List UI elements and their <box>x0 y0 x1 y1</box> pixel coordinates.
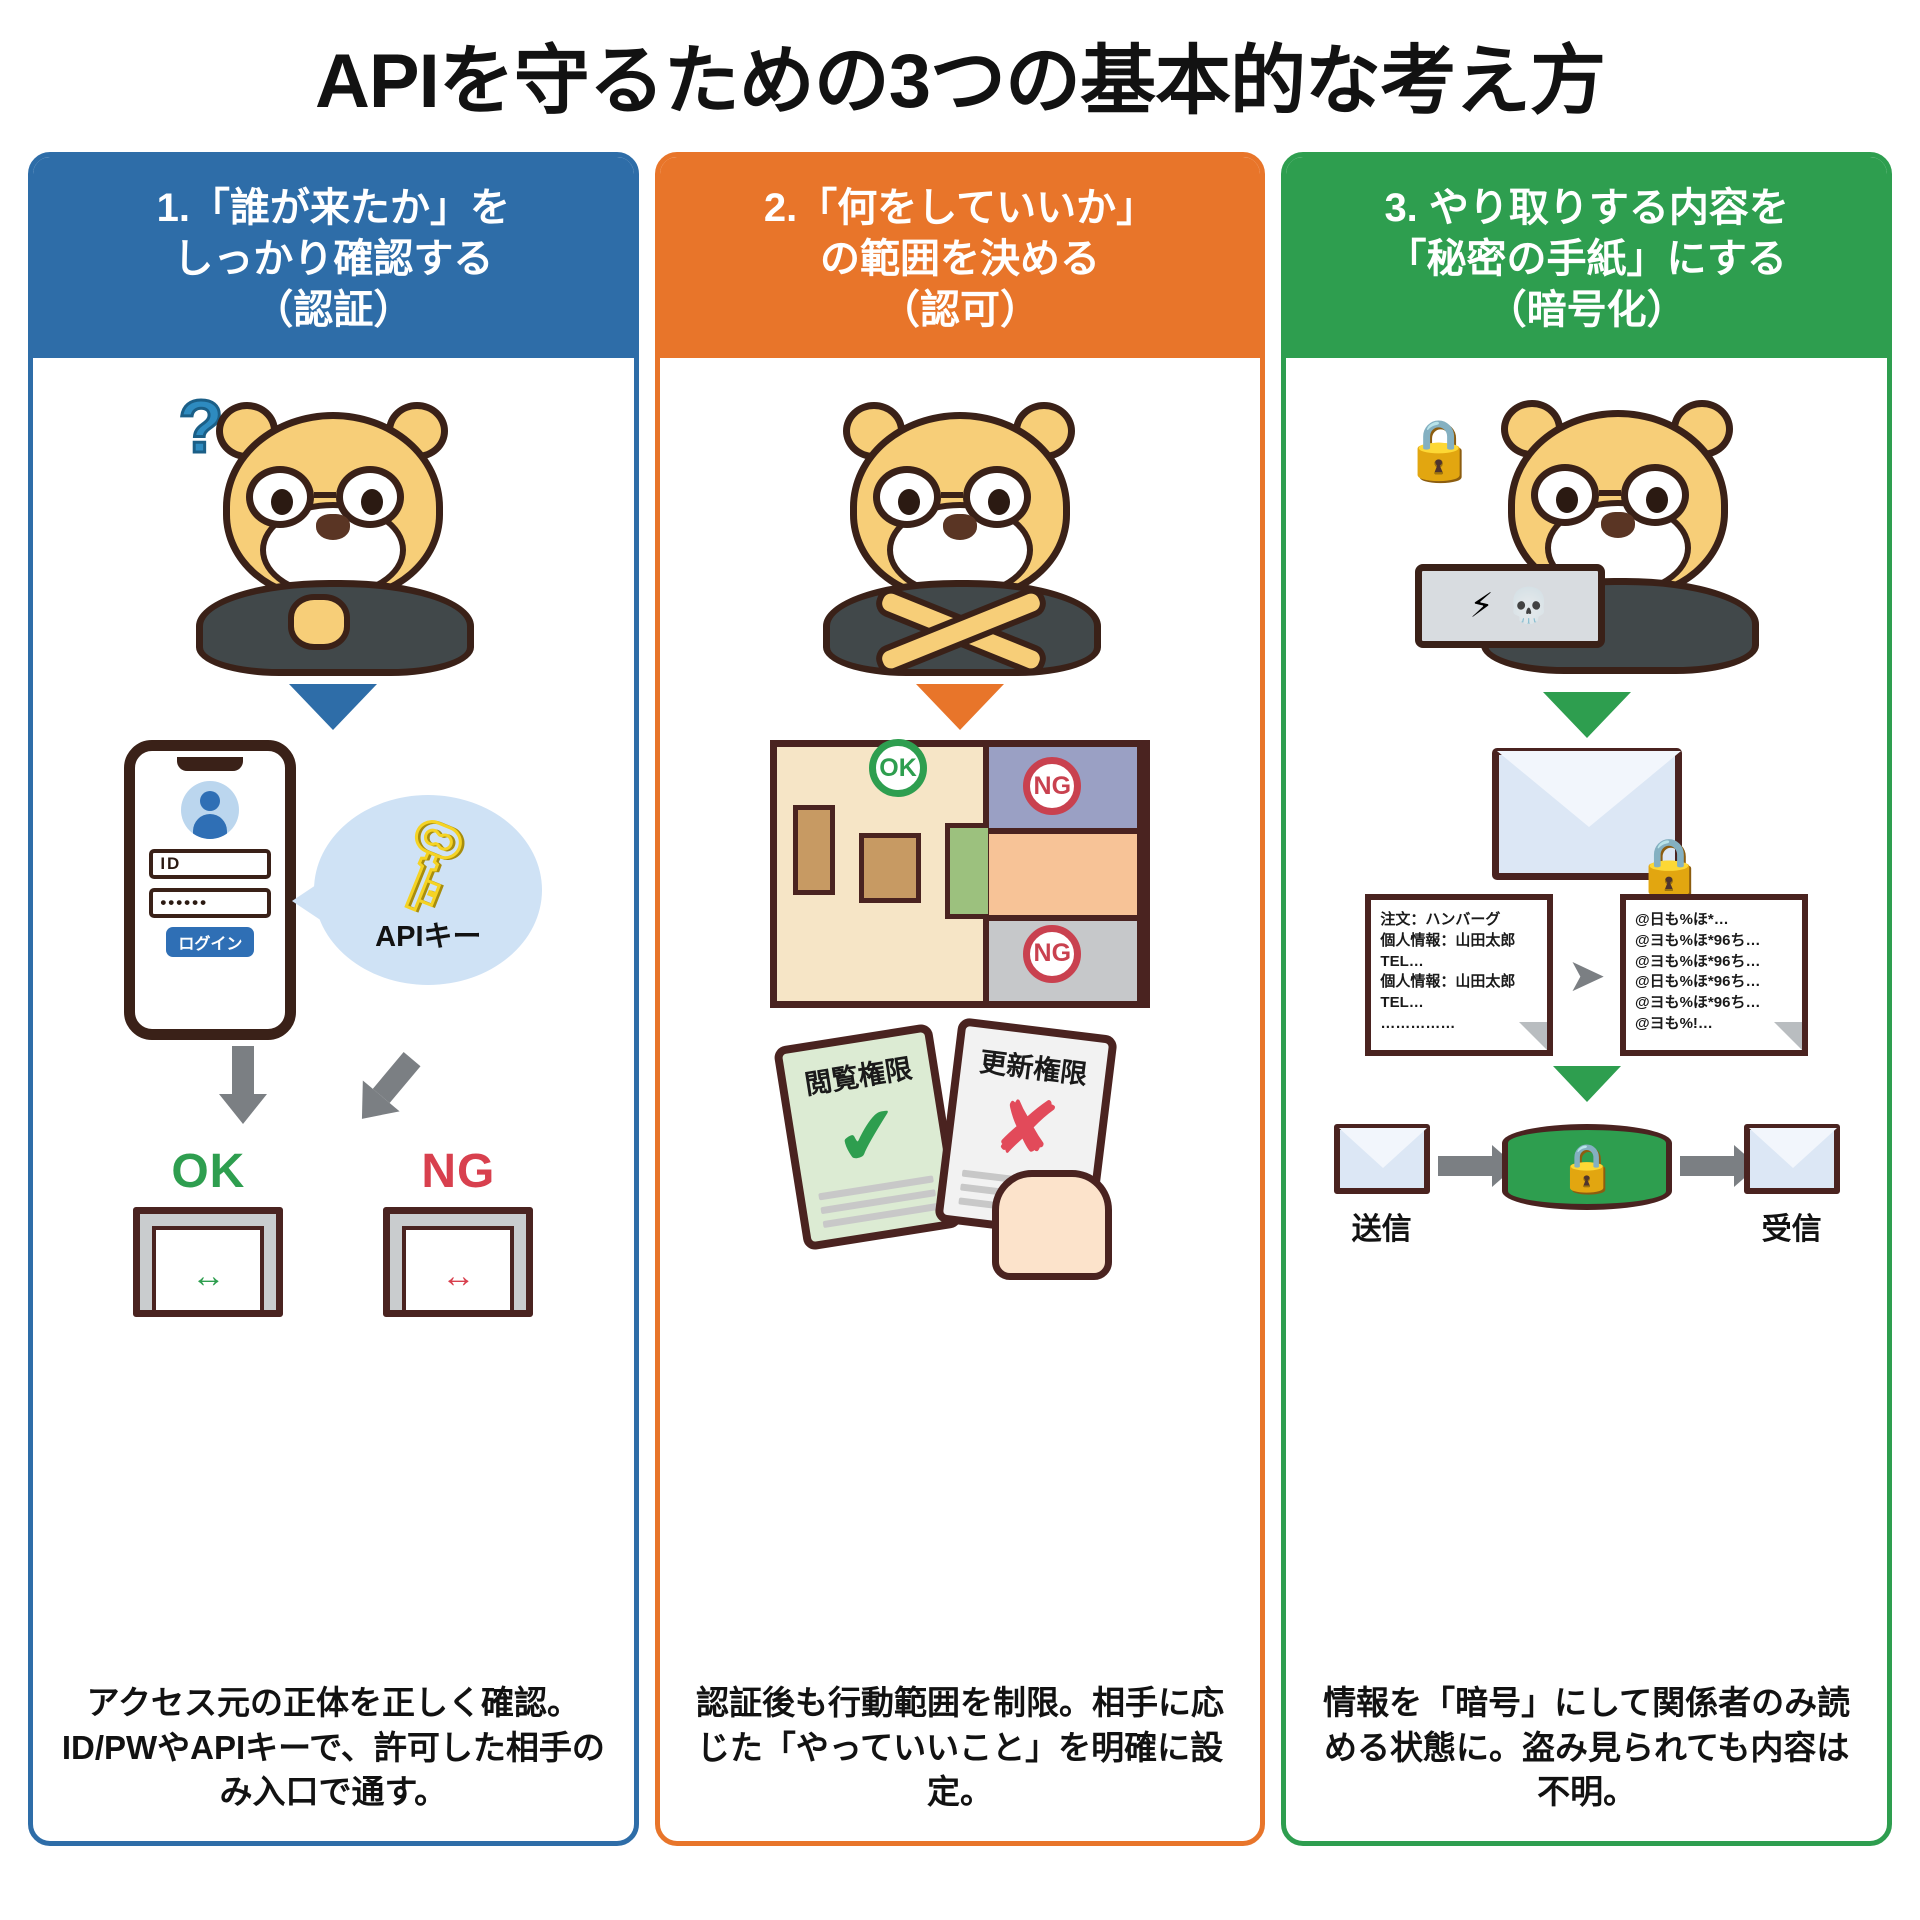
down-arrow-green-icon <box>1543 692 1631 738</box>
gate-closed-icon: ↔ <box>383 1207 533 1317</box>
column-2-header: 2.「何をしていいか」 の範囲を決める （認可） <box>660 157 1261 359</box>
send-label: 送信 <box>1334 1204 1430 1248</box>
gate-ng-arrow: ↔ <box>441 1257 475 1296</box>
envelope-send-icon <box>1334 1124 1430 1194</box>
floorplan-restricted-rooms: NG NG <box>989 747 1143 1001</box>
floorplan-allowed-room: OK <box>777 747 989 1001</box>
restricted-room-2 <box>989 834 1137 921</box>
cipher-line-1: @日も%ほ*… <box>1635 910 1793 931</box>
plain-line-2: 個人情報：山田太郎 <box>1380 931 1538 952</box>
column-1-caption: アクセス元の正体を正しく確認。ID/PWやAPIキーで、許可した相手のみ入口で通… <box>43 1671 624 1841</box>
phone-login-illustration: ID •••••• ログイン 🗝 APIキー <box>124 740 542 1040</box>
restricted-room-1: NG <box>989 747 1137 834</box>
page-title: APIを守るための3つの基本的な考え方 <box>0 0 1920 124</box>
ng-badge-2: NG <box>1023 925 1081 983</box>
encrypted-document: @日も%ほ*… @ヨも%ほ*96ち… @ヨも%ほ*96ち… @日も%ほ*96ち…… <box>1620 894 1808 1056</box>
plain-line-4: 個人情報：山田太郎 <box>1380 972 1538 993</box>
mascot-glasses-left <box>246 466 314 528</box>
mascot-glasses-left <box>873 466 941 528</box>
header-line-3: （認証） <box>45 285 622 336</box>
cipher-line-6: @ヨも%!… <box>1635 1014 1793 1035</box>
infographic-page: APIを守るための3つの基本的な考え方 1.「誰が来たか」を しっかり確認する … <box>0 0 1920 1920</box>
header-line-1: 3. やり取りする内容を <box>1298 183 1875 234</box>
tunnel-lock-icon: 🔒 <box>1558 1140 1615 1195</box>
skull-icon: 💀 <box>1507 586 1549 626</box>
furniture-sofa <box>945 823 993 919</box>
phone-notch <box>177 757 243 771</box>
gray-branch-arrows-icon <box>123 1046 543 1142</box>
plain-line-1: 注文：ハンバーグ <box>1380 910 1538 931</box>
column-2-body: OK NG NG <box>660 358 1261 1840</box>
envelope-receive-icon <box>1744 1124 1840 1194</box>
ok-label: OK <box>133 1144 283 1199</box>
receive-item: 受信 <box>1744 1124 1840 1248</box>
mascot-glasses-left <box>1531 464 1599 526</box>
login-button[interactable]: ログイン <box>166 927 254 957</box>
gate-open-icon: ↔ <box>133 1207 283 1317</box>
column-encryption: 3. やり取りする内容を 「秘密の手紙」にする （暗号化） 🔒 <box>1281 152 1892 1846</box>
cipher-line-4: @日も%ほ*96ち… <box>1635 972 1793 993</box>
mascot-crossed-arms <box>861 590 1061 660</box>
cipher-line-5: @ヨも%ほ*96ち… <box>1635 993 1793 1014</box>
column-3-body: 🔒 ⚡ 💀 <box>1286 358 1887 1840</box>
plain-line-6: …………… <box>1380 1014 1538 1035</box>
down-arrow-orange-icon <box>916 684 1004 730</box>
check-icon: ✔ <box>791 1086 945 1186</box>
receive-label: 受信 <box>1744 1204 1840 1248</box>
ng-label: NG <box>383 1144 533 1199</box>
permission-cards: 閲覧権限 ✔ 更新権限 ✘ <box>760 1020 1160 1256</box>
gate-ok-arrow: ↔ <box>191 1257 225 1296</box>
plain-line-3: TEL… <box>1380 952 1538 973</box>
plain-line-5: TEL… <box>1380 993 1538 1014</box>
column-3-caption: 情報を「暗号」にして関係者のみ読める状態に。盗み見られても内容は不明。 <box>1296 1671 1877 1841</box>
header-line-1: 2.「何をしていいか」 <box>672 183 1249 234</box>
gate-ok: OK ↔ <box>133 1144 283 1317</box>
mascot-nose <box>943 514 977 540</box>
mascot-crossed-arms-icon <box>795 384 1125 674</box>
api-key-bubble: 🗝 APIキー <box>314 795 542 985</box>
mascot-nose <box>1601 512 1635 538</box>
key-icon: 🗝 <box>366 806 490 921</box>
cipher-line-3: @ヨも%ほ*96ち… <box>1635 952 1793 973</box>
phone-device: ID •••••• ログイン <box>124 740 296 1040</box>
user-avatar-icon <box>181 781 239 839</box>
column-authentication: 1.「誰が来たか」を しっかり確認する （認証） ? <box>28 152 639 1846</box>
column-1-body: ? ID <box>33 358 634 1840</box>
columns-container: 1.「誰が来たか」を しっかり確認する （認証） ? <box>0 124 1920 1864</box>
send-item: 送信 <box>1334 1124 1430 1248</box>
id-field[interactable]: ID <box>149 849 271 879</box>
secure-tunnel-icon: 🔒 <box>1502 1124 1672 1210</box>
down-arrow-green-icon-2 <box>1553 1066 1621 1102</box>
gate-ng: NG ↔ <box>383 1144 533 1317</box>
encryption-documents: 注文：ハンバーグ 個人情報：山田太郎 TEL… 個人情報：山田太郎 TEL… …… <box>1365 894 1808 1056</box>
api-key-label: APIキー <box>375 913 481 955</box>
right-arrow-icon: ➤ <box>1567 952 1606 998</box>
transmission-flow: 送信 🔒 受信 <box>1334 1124 1840 1248</box>
gate-results-row: OK ↔ NG ↔ <box>43 1144 624 1317</box>
restricted-room-3: NG <box>989 921 1137 1002</box>
header-line-2: しっかり確認する <box>45 234 622 285</box>
floorplan-illustration: OK NG NG <box>770 740 1150 1008</box>
column-1-header: 1.「誰が来たか」を しっかり確認する （認証） <box>33 157 634 359</box>
furniture-cabinet <box>793 805 835 895</box>
flow-arrow-2-icon <box>1680 1156 1736 1176</box>
mascot-thinking-icon: ? <box>168 384 498 674</box>
cipher-line-2: @ヨも%ほ*96ち… <box>1635 931 1793 952</box>
header-line-3: （暗号化） <box>1298 285 1875 336</box>
header-line-2: 「秘密の手紙」にする <box>1298 234 1875 285</box>
password-field[interactable]: •••••• <box>149 888 271 918</box>
mascot-glasses-bridge <box>314 492 336 498</box>
card-lines <box>818 1175 938 1228</box>
header-line-1: 1.「誰が来たか」を <box>45 183 622 234</box>
column-2-caption: 認証後も行動範囲を制限。相手に応じた「やっていいこと」を明確に設定。 <box>670 1671 1251 1841</box>
lightning-icon: ⚡ <box>1470 586 1494 626</box>
column-authorization: 2.「何をしていいか」 の範囲を決める （認可） <box>655 152 1266 1846</box>
permission-card-view: 閲覧権限 ✔ <box>773 1023 963 1251</box>
locked-envelope: 🔒 <box>1492 748 1682 880</box>
plaintext-document: 注文：ハンバーグ 個人情報：山田太郎 TEL… 個人情報：山田太郎 TEL… …… <box>1365 894 1553 1056</box>
hand-holding-cards <box>992 1170 1112 1280</box>
ng-badge-1: NG <box>1023 757 1081 815</box>
column-3-header: 3. やり取りする内容を 「秘密の手紙」にする （暗号化） <box>1286 157 1887 359</box>
cross-icon: ✘ <box>950 1081 1102 1176</box>
header-line-3: （認可） <box>672 285 1249 336</box>
ok-badge: OK <box>869 739 927 797</box>
mascot-hand <box>288 594 350 650</box>
header-line-2: の範囲を決める <box>672 234 1249 285</box>
mascot-glasses-bridge <box>1599 490 1621 496</box>
mascot-laptop-icon: 🔒 ⚡ 💀 <box>1397 382 1777 682</box>
furniture-table <box>859 833 921 903</box>
flow-arrow-1-icon <box>1438 1156 1494 1176</box>
mascot-glasses-bridge <box>941 492 963 498</box>
envelope-padlock-icon: 🔒 <box>1634 834 1704 900</box>
down-arrow-blue-icon <box>289 684 377 730</box>
laptop-icon: ⚡ 💀 <box>1415 564 1605 648</box>
